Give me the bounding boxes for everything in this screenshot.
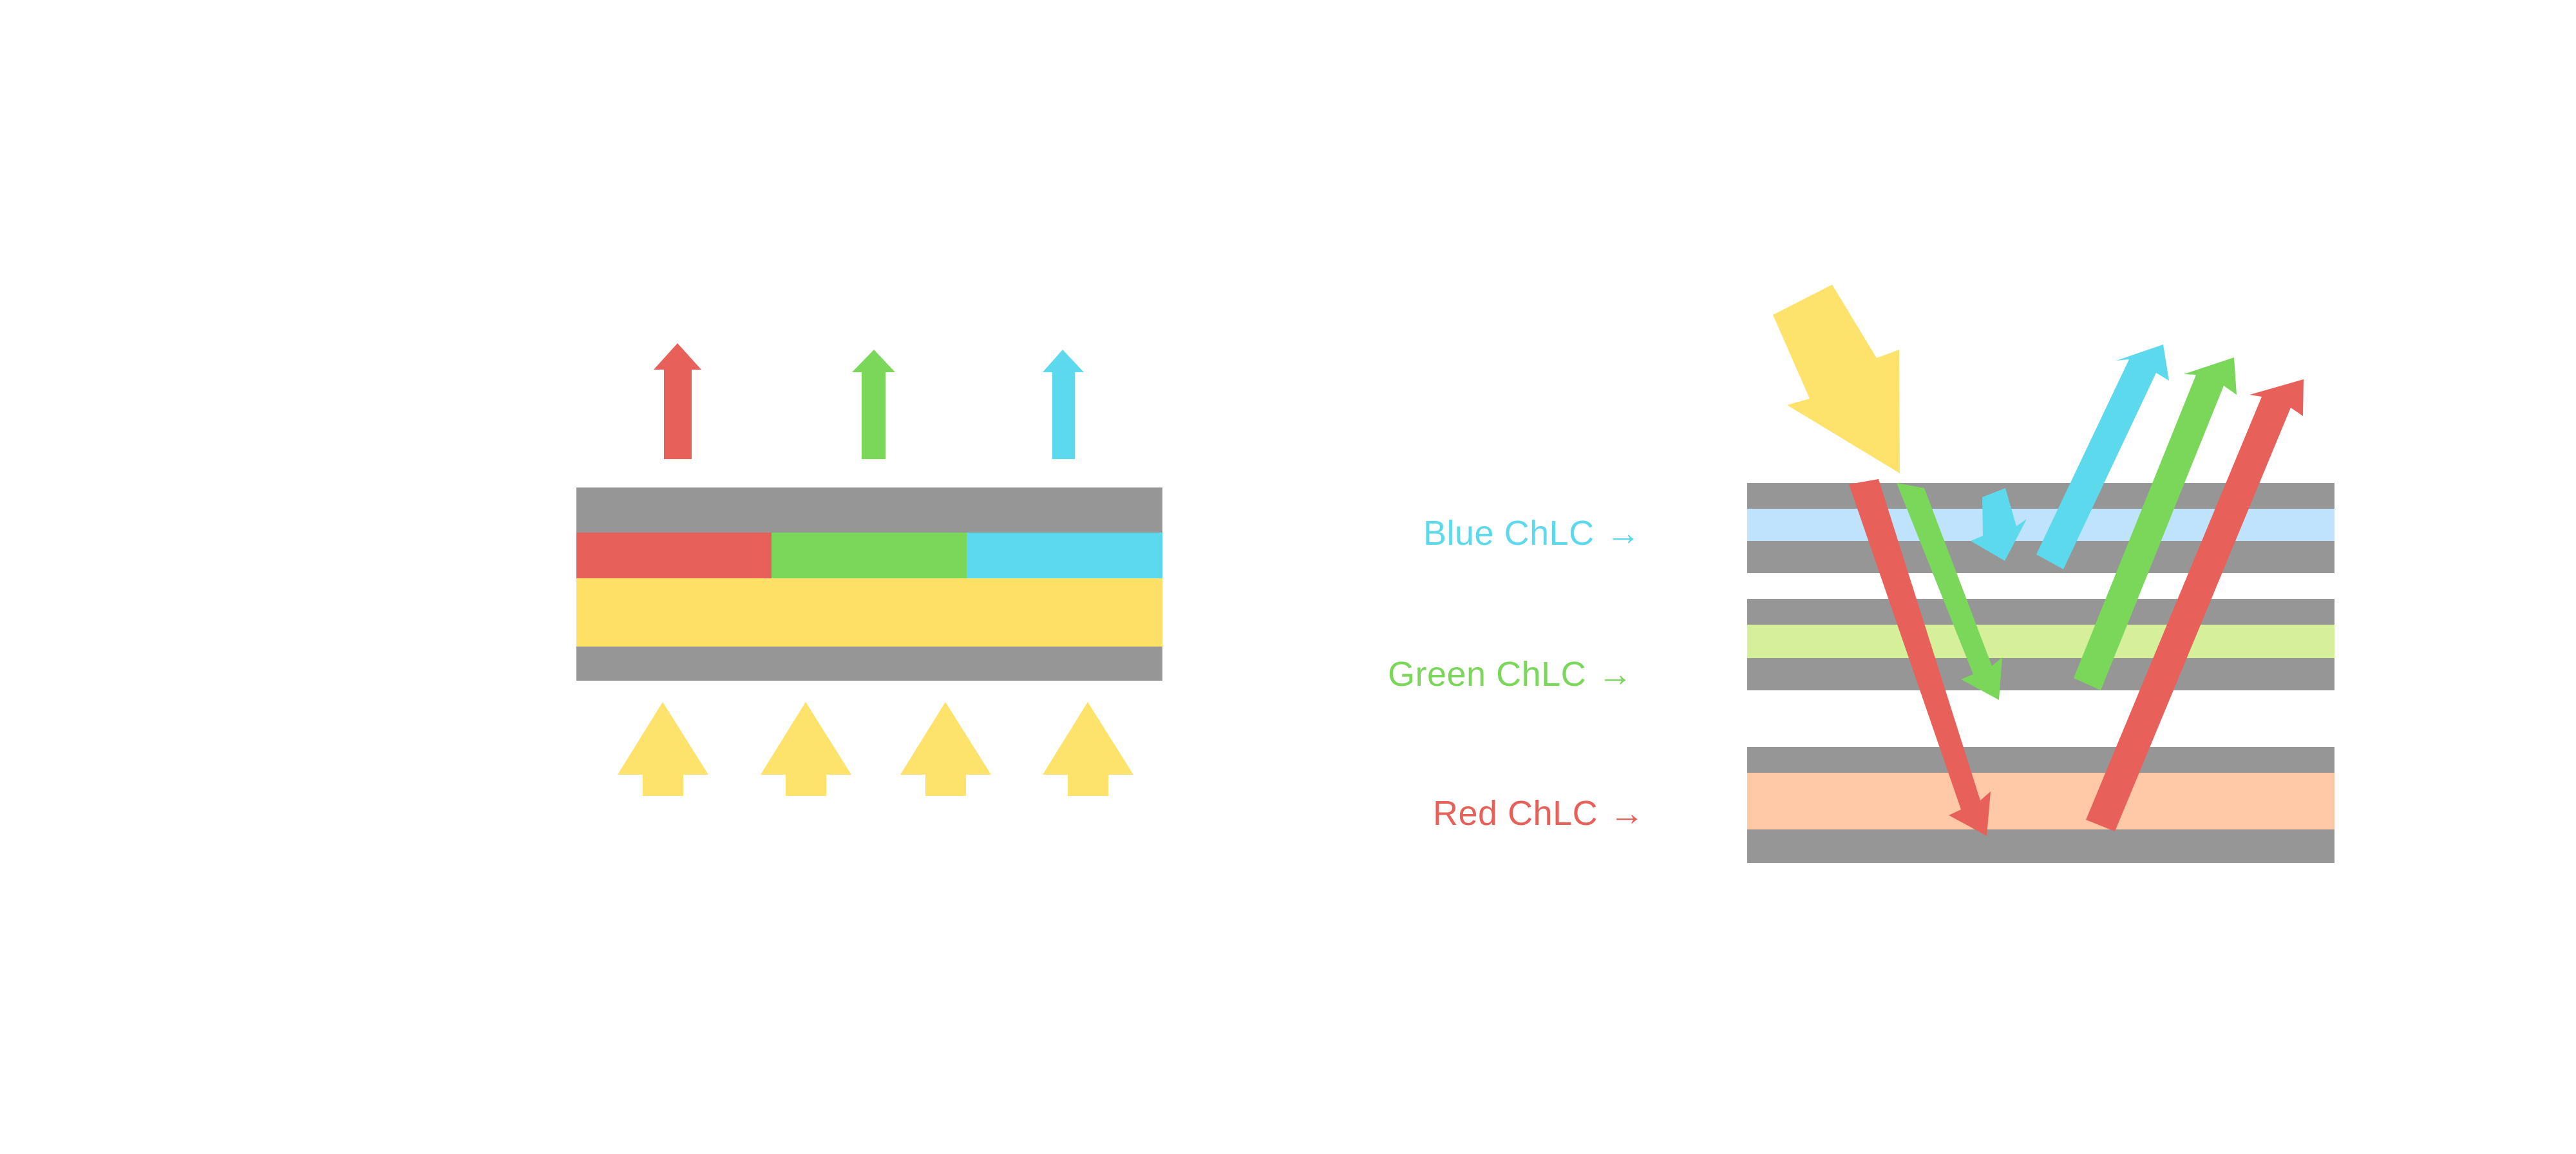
label-blue-chlc-arrow-icon: → bbox=[1606, 514, 1642, 553]
label-green-chlc-text: Green ChLC bbox=[1388, 655, 1586, 694]
right-chlc-stack bbox=[1747, 483, 2334, 863]
diagram-canvas: Blue ChLC→ Green ChLC→ Red ChLC→ bbox=[0, 0, 2576, 1154]
green-light-arrow-icon bbox=[852, 350, 895, 459]
green-chlc-cell bbox=[1747, 599, 2334, 690]
incident-light-arrow-icon bbox=[1773, 285, 1900, 473]
label-red-chlc-arrow-icon: → bbox=[1609, 794, 1645, 833]
left-bottom-gray-layer bbox=[576, 647, 1162, 681]
label-blue-chlc-text: Blue ChLC bbox=[1423, 514, 1595, 553]
left-layer-stack bbox=[576, 487, 1162, 681]
backlight-arrow-icon bbox=[618, 702, 708, 796]
label-blue-chlc: Blue ChLC→ bbox=[1423, 513, 1641, 553]
label-red-chlc: Red ChLC→ bbox=[1433, 793, 1645, 833]
label-green-chlc: Green ChLC→ bbox=[1388, 654, 1633, 694]
backlight-arrow-icon bbox=[761, 702, 851, 796]
left-output-arrows bbox=[654, 343, 1084, 459]
label-red-chlc-text: Red ChLC bbox=[1433, 794, 1598, 833]
left-red-segment bbox=[576, 533, 772, 578]
blue-light-arrow-icon bbox=[1043, 350, 1084, 459]
left-yellow-backlight-layer bbox=[576, 578, 1162, 647]
incident-light-arrow bbox=[1773, 285, 1900, 473]
green-chlc-fill bbox=[1747, 625, 2334, 658]
left-backlight-source-arrows bbox=[618, 702, 1133, 796]
green-cell-top-electrode bbox=[1747, 599, 2334, 625]
backlight-arrow-icon bbox=[1043, 702, 1133, 796]
red-chlc-cell bbox=[1747, 747, 2334, 863]
left-panel-graphics bbox=[0, 0, 2576, 1154]
backlight-arrow-icon bbox=[900, 702, 991, 796]
red-chlc-fill bbox=[1747, 773, 2334, 829]
left-green-segment bbox=[772, 533, 967, 578]
green-cell-bottom-electrode bbox=[1747, 658, 2334, 690]
red-cell-bottom-electrode bbox=[1747, 829, 2334, 863]
red-cell-top-electrode bbox=[1747, 747, 2334, 773]
left-blue-segment bbox=[967, 533, 1162, 578]
label-green-chlc-arrow-icon: → bbox=[1598, 655, 1633, 694]
left-top-gray-layer bbox=[576, 487, 1162, 533]
red-light-arrow-icon bbox=[654, 343, 701, 459]
